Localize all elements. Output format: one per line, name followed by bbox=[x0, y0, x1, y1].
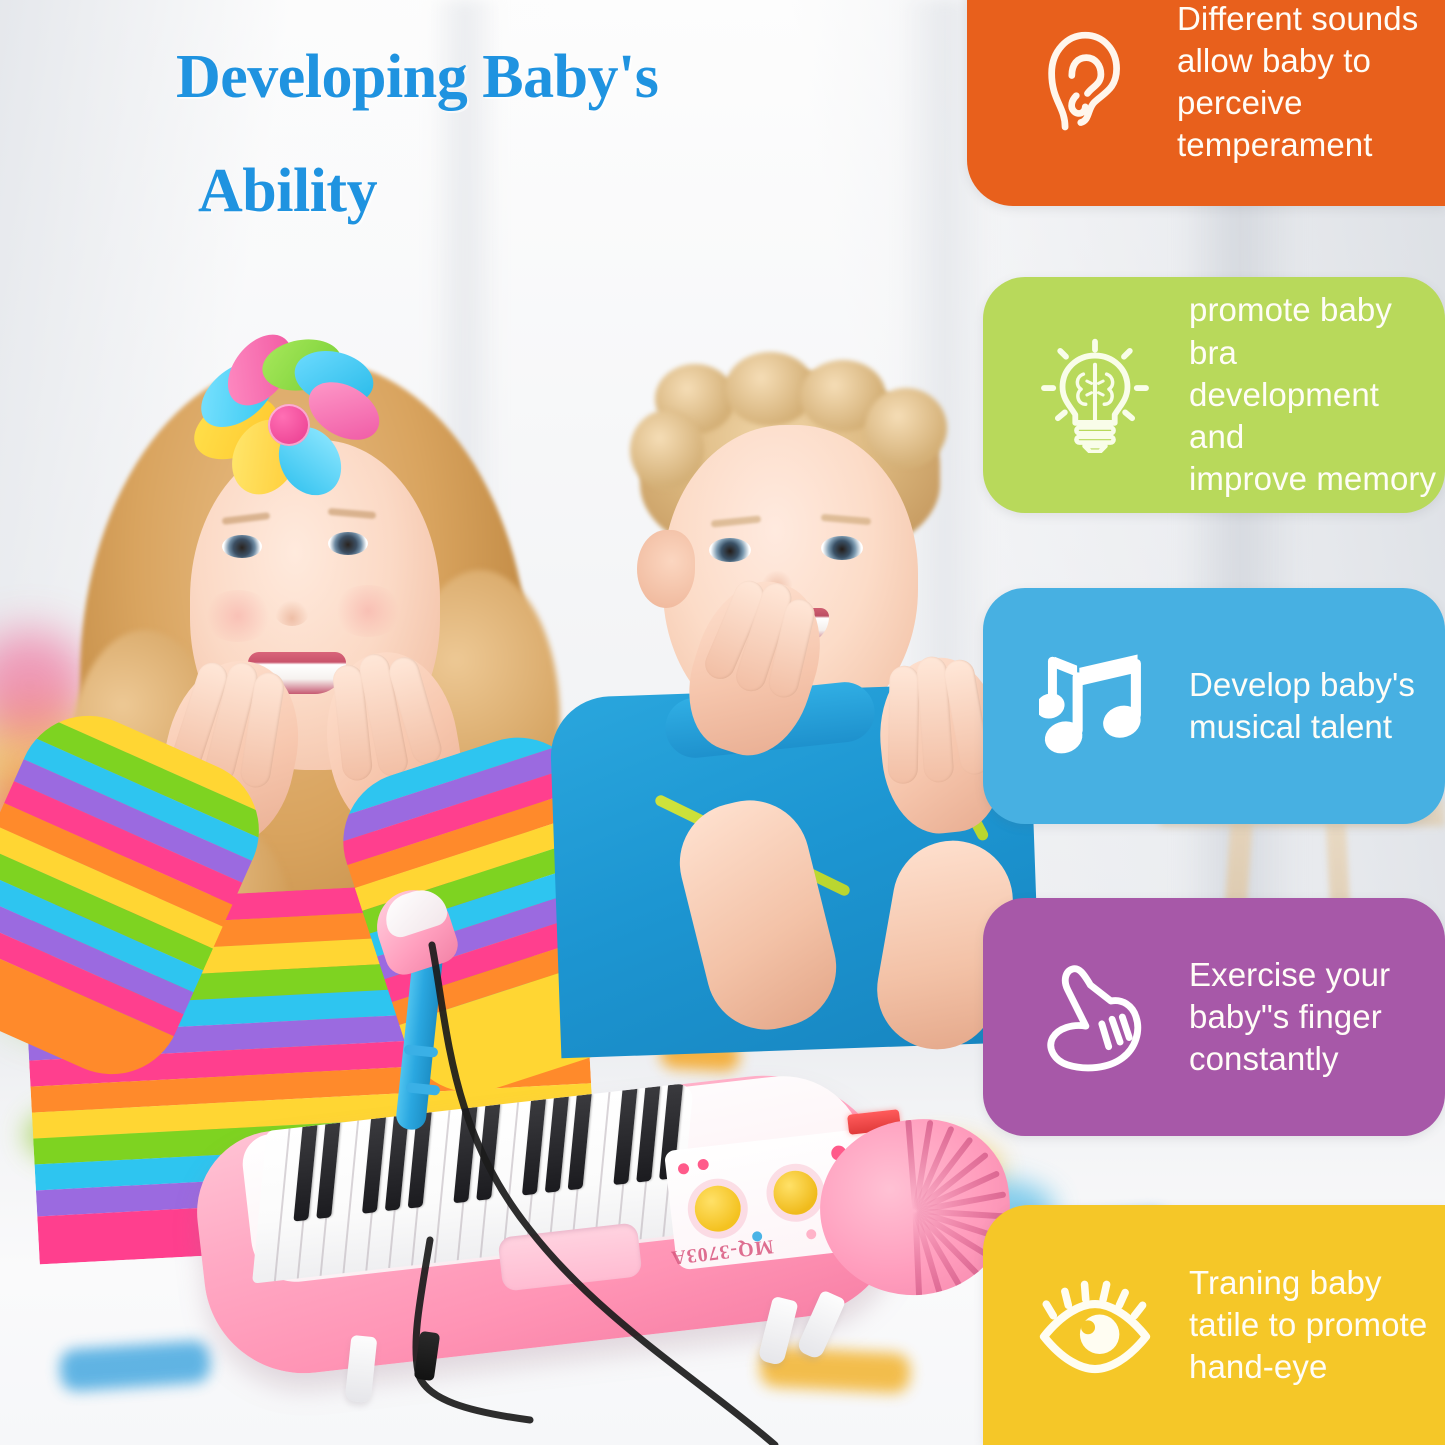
girl-nose bbox=[275, 600, 309, 626]
lightbulb-brain-icon bbox=[1031, 331, 1159, 459]
keyboard-leg bbox=[345, 1335, 378, 1403]
music-notes-icon bbox=[1031, 642, 1159, 770]
toy-keyboard: MQ-3703A bbox=[200, 1060, 920, 1400]
feature-card-sound[interactable]: Different sounds allow baby to perceive … bbox=[967, 0, 1445, 206]
child-girl bbox=[70, 330, 540, 1070]
eye-icon bbox=[1031, 1261, 1159, 1389]
boy-eye bbox=[821, 536, 863, 560]
page-title: Developing Baby's Ability bbox=[176, 46, 936, 222]
girl-rainbow-bow bbox=[190, 340, 380, 500]
feature-card-text: Different sounds allow baby to perceive … bbox=[1177, 0, 1422, 166]
title-line-2: Ability bbox=[198, 160, 936, 222]
feature-card-brain[interactable]: promote baby bra development and improve… bbox=[983, 277, 1445, 513]
mode-button bbox=[697, 1158, 709, 1170]
feature-card-music[interactable]: Develop baby's musical talent bbox=[983, 588, 1445, 824]
pointing-hand-icon bbox=[1031, 953, 1159, 1081]
tone-knob bbox=[771, 1168, 820, 1217]
title-line-1: Developing Baby's bbox=[176, 43, 658, 111]
feature-card-text: promote baby bra development and improve… bbox=[1189, 289, 1445, 500]
bow-knot bbox=[268, 404, 310, 446]
boy-eye bbox=[709, 538, 751, 562]
feature-card-finger[interactable]: Exercise your baby"s finger constantly bbox=[983, 898, 1445, 1136]
feature-card-text: Develop baby's musical talent bbox=[1189, 664, 1419, 748]
girl-cheek bbox=[202, 590, 274, 642]
feature-card-text: Traning baby tatile to promote hand-eye bbox=[1189, 1262, 1431, 1389]
decor-dot bbox=[806, 1229, 817, 1240]
feature-card-eye[interactable]: Traning baby tatile to promote hand-eye bbox=[983, 1205, 1445, 1445]
volume-knob bbox=[692, 1183, 743, 1234]
finger bbox=[888, 666, 920, 785]
feature-card-text: Exercise your baby"s finger constantly bbox=[1189, 954, 1394, 1081]
boy-hair-curl bbox=[865, 388, 947, 468]
girl-eye bbox=[328, 532, 368, 555]
mode-button bbox=[677, 1163, 689, 1175]
boy-ear bbox=[637, 530, 695, 608]
ear-icon bbox=[1019, 16, 1147, 144]
girl-eye bbox=[222, 535, 262, 558]
child-boy bbox=[585, 370, 1005, 1070]
girl-cheek bbox=[332, 585, 404, 637]
